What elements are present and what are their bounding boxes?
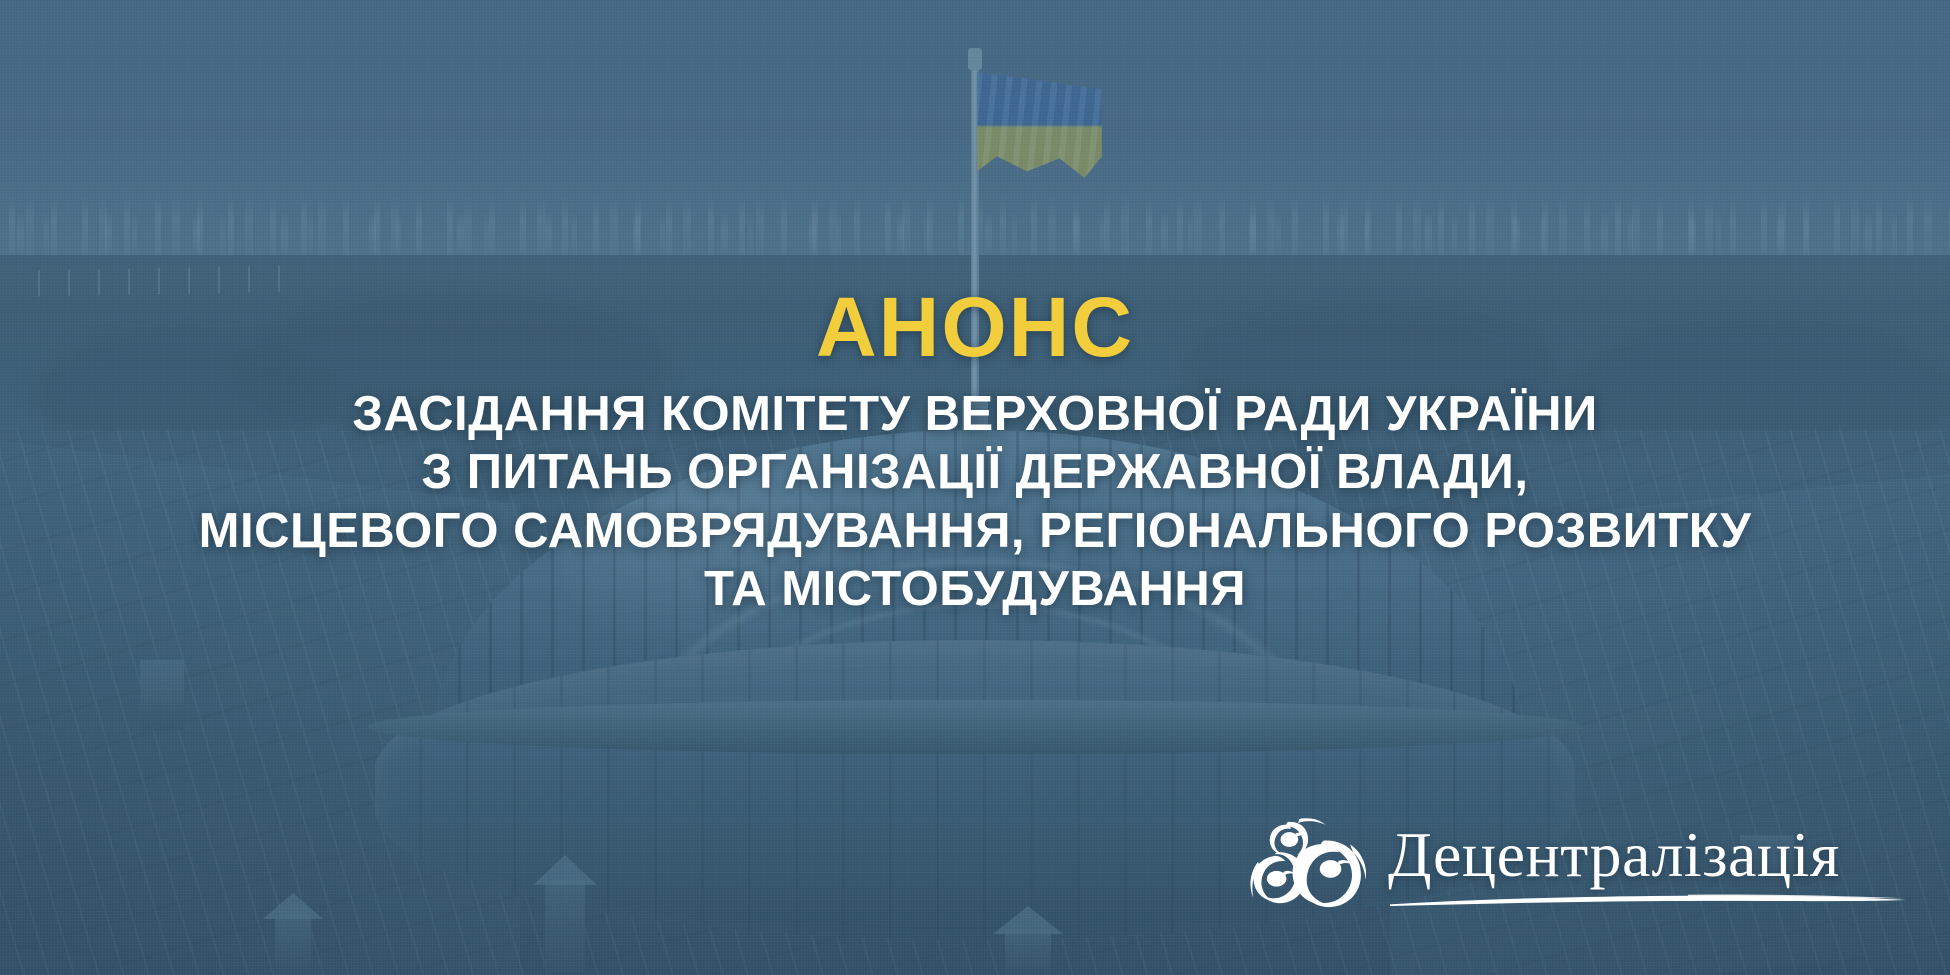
decentralization-logo[interactable]: Децентралізація [1248, 817, 1908, 913]
roof-vent [275, 915, 311, 975]
flagpole-finial [968, 48, 982, 70]
dome-lantern [962, 398, 988, 450]
logo-text-wrap: Децентралізація [1388, 823, 1908, 907]
announcement-poster: АНОНС ЗАСІДАННЯ КОМІТЕТУ ВЕРХОВНОЇ РАДИ … [0, 0, 1950, 975]
tree-cluster [1180, 300, 1560, 440]
three-figures-brush-icon [1248, 817, 1366, 913]
roof-vent [1005, 930, 1051, 975]
roof-vent [545, 880, 585, 975]
dome-cornice [368, 700, 1583, 754]
roof-chimney [140, 660, 184, 730]
dome-highlight [560, 455, 980, 665]
logo-wordmark: Децентралізація [1388, 823, 1908, 887]
bridge-structure [30, 266, 300, 297]
brush-underline-icon [1388, 893, 1908, 907]
